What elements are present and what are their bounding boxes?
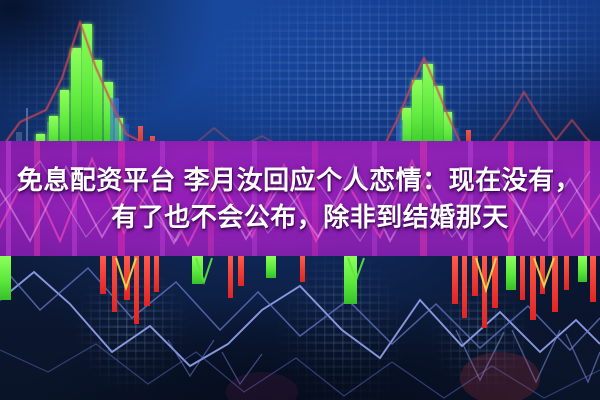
caption-band: 免息配资平台 李月汝回应个人恋情：现在没有， 有了也不会公布，除非到结婚那天 [0,141,600,256]
caption-line-2: 有了也不会公布，除非到结婚那天 [111,202,509,233]
bull-candles-lower [0,256,587,304]
candle-chevrons [116,258,554,290]
caption-text-block: 免息配资平台 李月汝回应个人恋情：现在没有， 有了也不会公布，除非到结婚那天 [0,141,600,256]
banner-image: 免息配资平台 李月汝回应个人恋情：现在没有， 有了也不会公布，除非到结婚那天 [0,0,600,400]
caption-line-1: 免息配资平台 李月汝回应个人恋情：现在没有， [17,165,581,196]
